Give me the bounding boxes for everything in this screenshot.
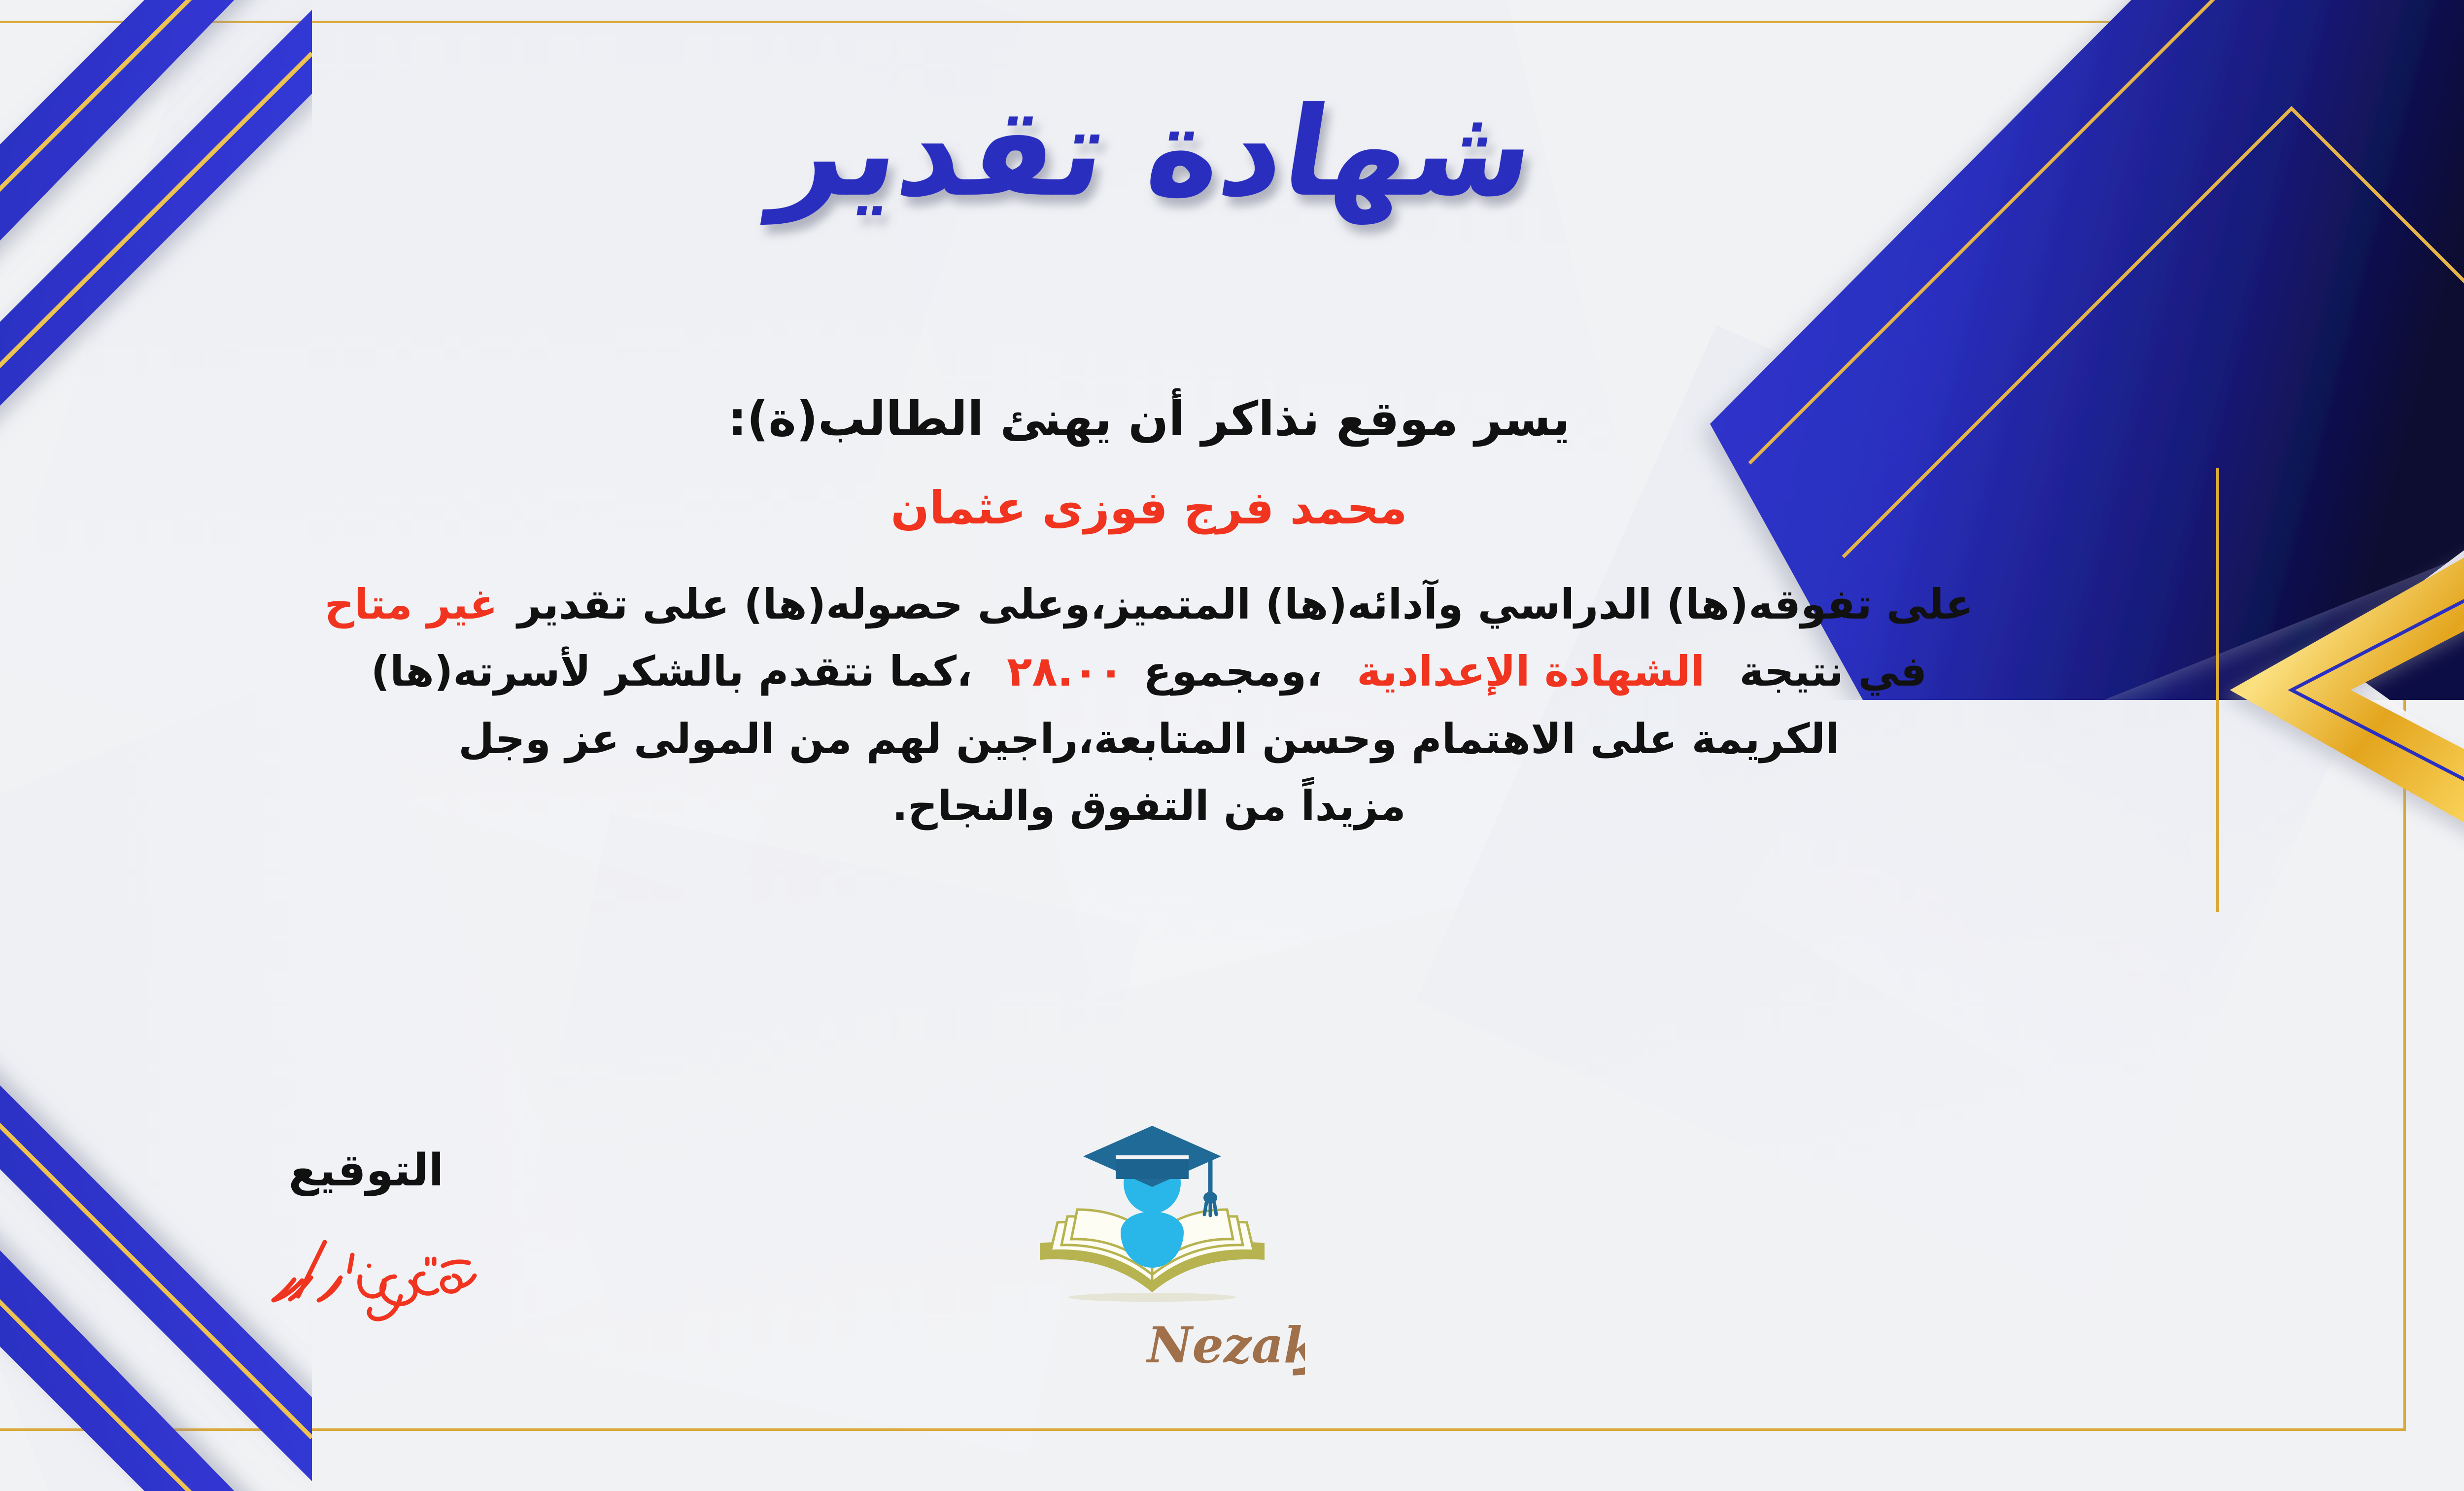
paragraph-line-1: على تفوقه(ها) الدراسي وآدائه(ها) المتميز… <box>517 580 1974 628</box>
certificate-title: شهادة تقدير <box>0 47 2464 256</box>
achievement-paragraph: على تفوقه(ها) الدراسي وآدائه(ها) المتميز… <box>0 571 2341 839</box>
grade-value: غير متاح <box>324 580 498 628</box>
logo-name-latin: Nezakr <box>1146 1316 1305 1374</box>
certificate-body: يسر موقع نذاكر أن يهنئ الطالب(ة): محمد ف… <box>0 389 2341 839</box>
paragraph-line-4: مزيداً من التفوق والنجاح. <box>892 782 1406 830</box>
certificate-page: شهادة تقدير يسر موقع نذاكر أن يهنئ الطال… <box>0 0 2464 1491</box>
paragraph-line-2-c: ،كما نتقدم بالشكر لأسرته(ها) <box>371 647 972 695</box>
certificate-stage-value: الشهادة الإعدادية <box>1357 647 1705 695</box>
nezakr-logo: نذاكر Nezakr <box>975 1109 1330 1377</box>
signature-block: التوقيع <box>213 1148 519 1336</box>
logo-wordmark: نذاكر Nezakr <box>975 1313 1330 1377</box>
signature-label: التوقيع <box>213 1148 519 1193</box>
paragraph-line-3: الكريمة على الاهتمام وحسن المتابعة،راجين… <box>458 715 1840 763</box>
total-score-value: ٢٨.٠٠ <box>1007 647 1124 695</box>
student-name: محمد فرج فوزى عثمان <box>0 481 2341 535</box>
paragraph-line-2-b: ،ومجموع <box>1143 647 1322 695</box>
graduation-book-icon <box>1014 1109 1290 1316</box>
greeting-line: يسر موقع نذاكر أن يهنئ الطالب(ة): <box>0 389 2341 449</box>
title-glyphs: شهادة تقدير <box>760 80 1545 225</box>
paragraph-line-2-a: في نتيجة <box>1739 647 1927 695</box>
handwritten-signature <box>228 1222 504 1336</box>
